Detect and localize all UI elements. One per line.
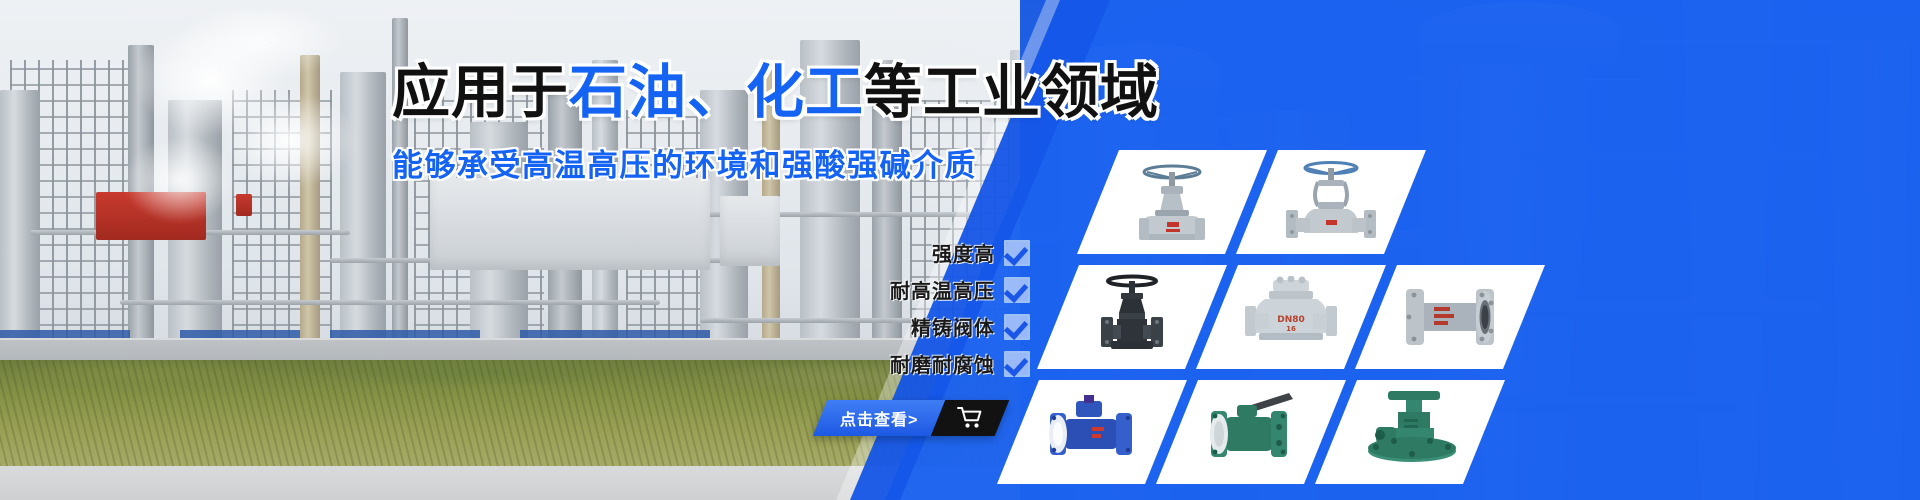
steam-plume <box>90 10 420 260</box>
feature-item: 强度高 <box>932 238 1030 267</box>
check-icon <box>1004 277 1030 303</box>
page-subtitle: 能够承受高温高压的环境和强酸强碱介质 <box>392 140 977 185</box>
feature-item: 耐磨耐腐蚀 <box>890 349 1030 378</box>
product-row-2: DN80 16 <box>1058 265 1535 369</box>
feature-checklist: 强度高 耐高温高压 精铸阀体 耐磨耐腐蚀 <box>640 238 1030 378</box>
product-cell-ball-valve-blue-lined[interactable] <box>997 380 1187 484</box>
product-cell-flanged-spool-valve[interactable] <box>1355 265 1545 369</box>
svg-text:16: 16 <box>1286 325 1296 333</box>
headline-part-3: 等工业领域 <box>864 60 1159 125</box>
product-row-3 <box>1018 380 1495 484</box>
check-icon <box>1004 240 1030 266</box>
feature-label: 耐磨耐腐蚀 <box>890 349 995 378</box>
feature-label: 精铸阀体 <box>911 312 995 341</box>
product-cell-gate-valve-black-flanged[interactable] <box>1037 265 1227 369</box>
product-cell-globe-valve-flanged[interactable] <box>1236 150 1426 254</box>
cta-label: 点击查看> <box>840 406 918 430</box>
feature-item: 精铸阀体 <box>911 312 1030 341</box>
feature-item: 耐高温高压 <box>890 275 1030 304</box>
feature-label: 强度高 <box>932 238 995 267</box>
product-row-1 <box>1098 150 1416 254</box>
shopping-cart-icon <box>957 406 983 430</box>
hero-banner: 应用于石油、化工等工业领域 能够承受高温高压的环境和强酸强碱介质 强度高 耐高温… <box>0 0 1920 500</box>
cta-button[interactable]: 点击查看> <box>813 400 1010 436</box>
cta-label-area[interactable]: 点击查看> <box>813 400 946 436</box>
check-icon <box>1004 351 1030 377</box>
svg-text:DN80: DN80 <box>1277 315 1305 325</box>
product-cell-green-flanged-valve[interactable] <box>1315 380 1505 484</box>
feature-label: 耐高温高压 <box>890 275 995 304</box>
headline-part-1: 应用于 <box>392 60 569 125</box>
page-title: 应用于石油、化工等工业领域 <box>392 62 1159 125</box>
product-cell-ball-valve-green-lever[interactable] <box>1156 380 1346 484</box>
product-cell-swing-check-valve[interactable]: DN80 16 <box>1196 265 1386 369</box>
check-icon <box>1004 314 1030 340</box>
product-cell-gate-valve-handwheel[interactable] <box>1077 150 1267 254</box>
headline-highlight: 石油、化工 <box>569 60 864 125</box>
